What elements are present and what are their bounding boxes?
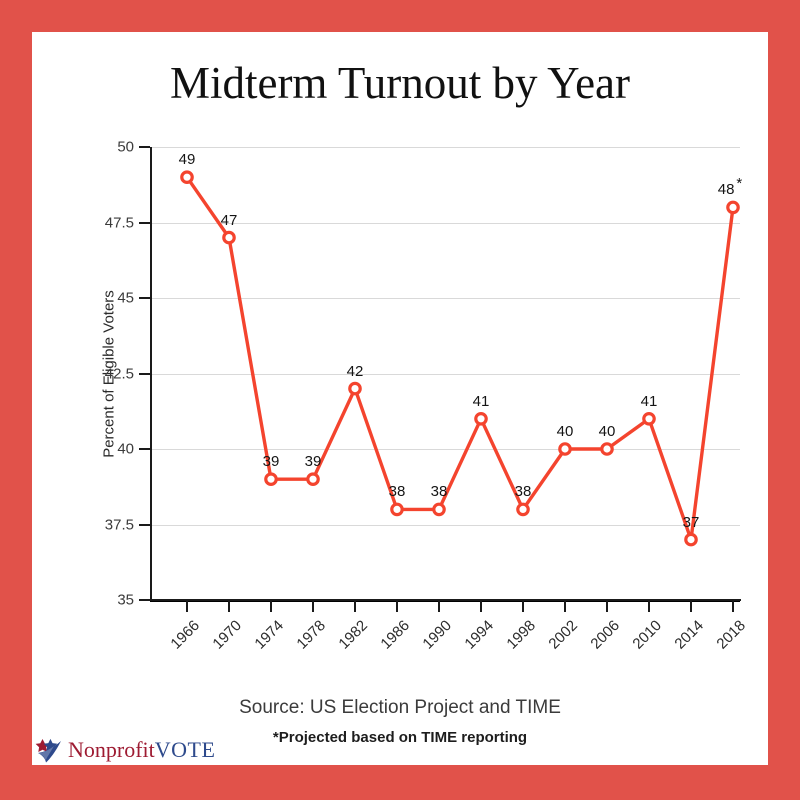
logo-vote-word: VOTE xyxy=(155,737,216,762)
data-label-1990: 38 xyxy=(431,483,448,500)
x-tick-label-2014: 2014 xyxy=(664,617,707,660)
data-label-1978: 39 xyxy=(305,453,322,470)
data-point-marker[interactable] xyxy=(224,232,234,242)
x-tick-label-2018: 2018 xyxy=(706,617,749,660)
x-tick-label-2002: 2002 xyxy=(538,617,581,660)
data-point-marker[interactable] xyxy=(518,504,528,514)
data-label-1982: 42 xyxy=(347,363,364,380)
source-text: Source: US Election Project and TIME xyxy=(32,697,768,719)
data-point-marker[interactable] xyxy=(560,444,570,454)
turnout-line-series xyxy=(150,147,740,601)
y-tick-label-35: 35 xyxy=(80,592,134,609)
y-tick-35 xyxy=(139,599,150,601)
data-label-1966: 49 xyxy=(179,151,196,168)
data-point-marker[interactable] xyxy=(308,474,318,484)
data-point-marker[interactable] xyxy=(602,444,612,454)
data-label-1986: 38 xyxy=(389,483,406,500)
red-frame: Midterm Turnout by Year Percent of Eligi… xyxy=(0,0,800,800)
y-tick-42.5 xyxy=(139,373,150,375)
data-point-marker[interactable] xyxy=(686,534,696,544)
data-label-2018: 48* xyxy=(718,175,741,198)
x-tick-label-1994: 1994 xyxy=(454,617,497,660)
data-point-marker[interactable] xyxy=(728,202,738,212)
plot-wrapper: Percent of Eligible Voters 3537.54042.54… xyxy=(32,32,768,765)
data-label-2006: 40 xyxy=(599,423,616,440)
data-label-2014: 37 xyxy=(683,514,700,531)
y-tick-37.5 xyxy=(139,524,150,526)
x-tick-label-1986: 1986 xyxy=(370,617,413,660)
data-point-marker[interactable] xyxy=(476,414,486,424)
logo-nonprofit-word: Nonprofit xyxy=(68,737,155,762)
x-tick-label-1966: 1966 xyxy=(160,617,203,660)
projection-asterisk: * xyxy=(736,175,742,192)
y-tick-45 xyxy=(139,297,150,299)
data-label-1998: 38 xyxy=(515,483,532,500)
data-point-marker[interactable] xyxy=(392,504,402,514)
logo-text: NonprofitVOTE xyxy=(68,739,215,761)
data-point-marker[interactable] xyxy=(434,504,444,514)
data-label-2010: 41 xyxy=(641,393,658,410)
x-tick-label-1998: 1998 xyxy=(496,617,539,660)
data-label-1974: 39 xyxy=(263,453,280,470)
y-tick-label-40: 40 xyxy=(80,441,134,458)
x-tick-label-2006: 2006 xyxy=(580,617,623,660)
data-label-2002: 40 xyxy=(557,423,574,440)
y-tick-50 xyxy=(139,146,150,148)
nonprofit-vote-logo[interactable]: NonprofitVOTE xyxy=(32,735,215,765)
y-tick-40 xyxy=(139,448,150,450)
y-tick-label-45: 45 xyxy=(80,290,134,307)
plot-area: 3537.54042.54547.550 1966197019741978198… xyxy=(150,147,740,600)
y-tick-47.5 xyxy=(139,222,150,224)
star-swoosh-icon xyxy=(34,737,64,763)
x-tick-label-1974: 1974 xyxy=(244,617,287,660)
data-label-1970: 47 xyxy=(221,212,238,229)
data-label-1994: 41 xyxy=(473,393,490,410)
y-tick-label-47.5: 47.5 xyxy=(80,214,134,231)
y-tick-label-50: 50 xyxy=(80,139,134,156)
x-tick-label-2010: 2010 xyxy=(622,617,665,660)
y-tick-label-42.5: 42.5 xyxy=(80,365,134,382)
y-tick-label-37.5: 37.5 xyxy=(80,516,134,533)
data-point-marker[interactable] xyxy=(350,383,360,393)
data-point-marker[interactable] xyxy=(266,474,276,484)
x-tick-label-1970: 1970 xyxy=(202,617,245,660)
data-point-marker[interactable] xyxy=(182,172,192,182)
data-point-marker[interactable] xyxy=(644,414,654,424)
x-tick-label-1990: 1990 xyxy=(412,617,455,660)
x-tick-label-1978: 1978 xyxy=(286,617,329,660)
x-tick-label-1982: 1982 xyxy=(328,617,371,660)
chart-card: Midterm Turnout by Year Percent of Eligi… xyxy=(32,32,768,765)
